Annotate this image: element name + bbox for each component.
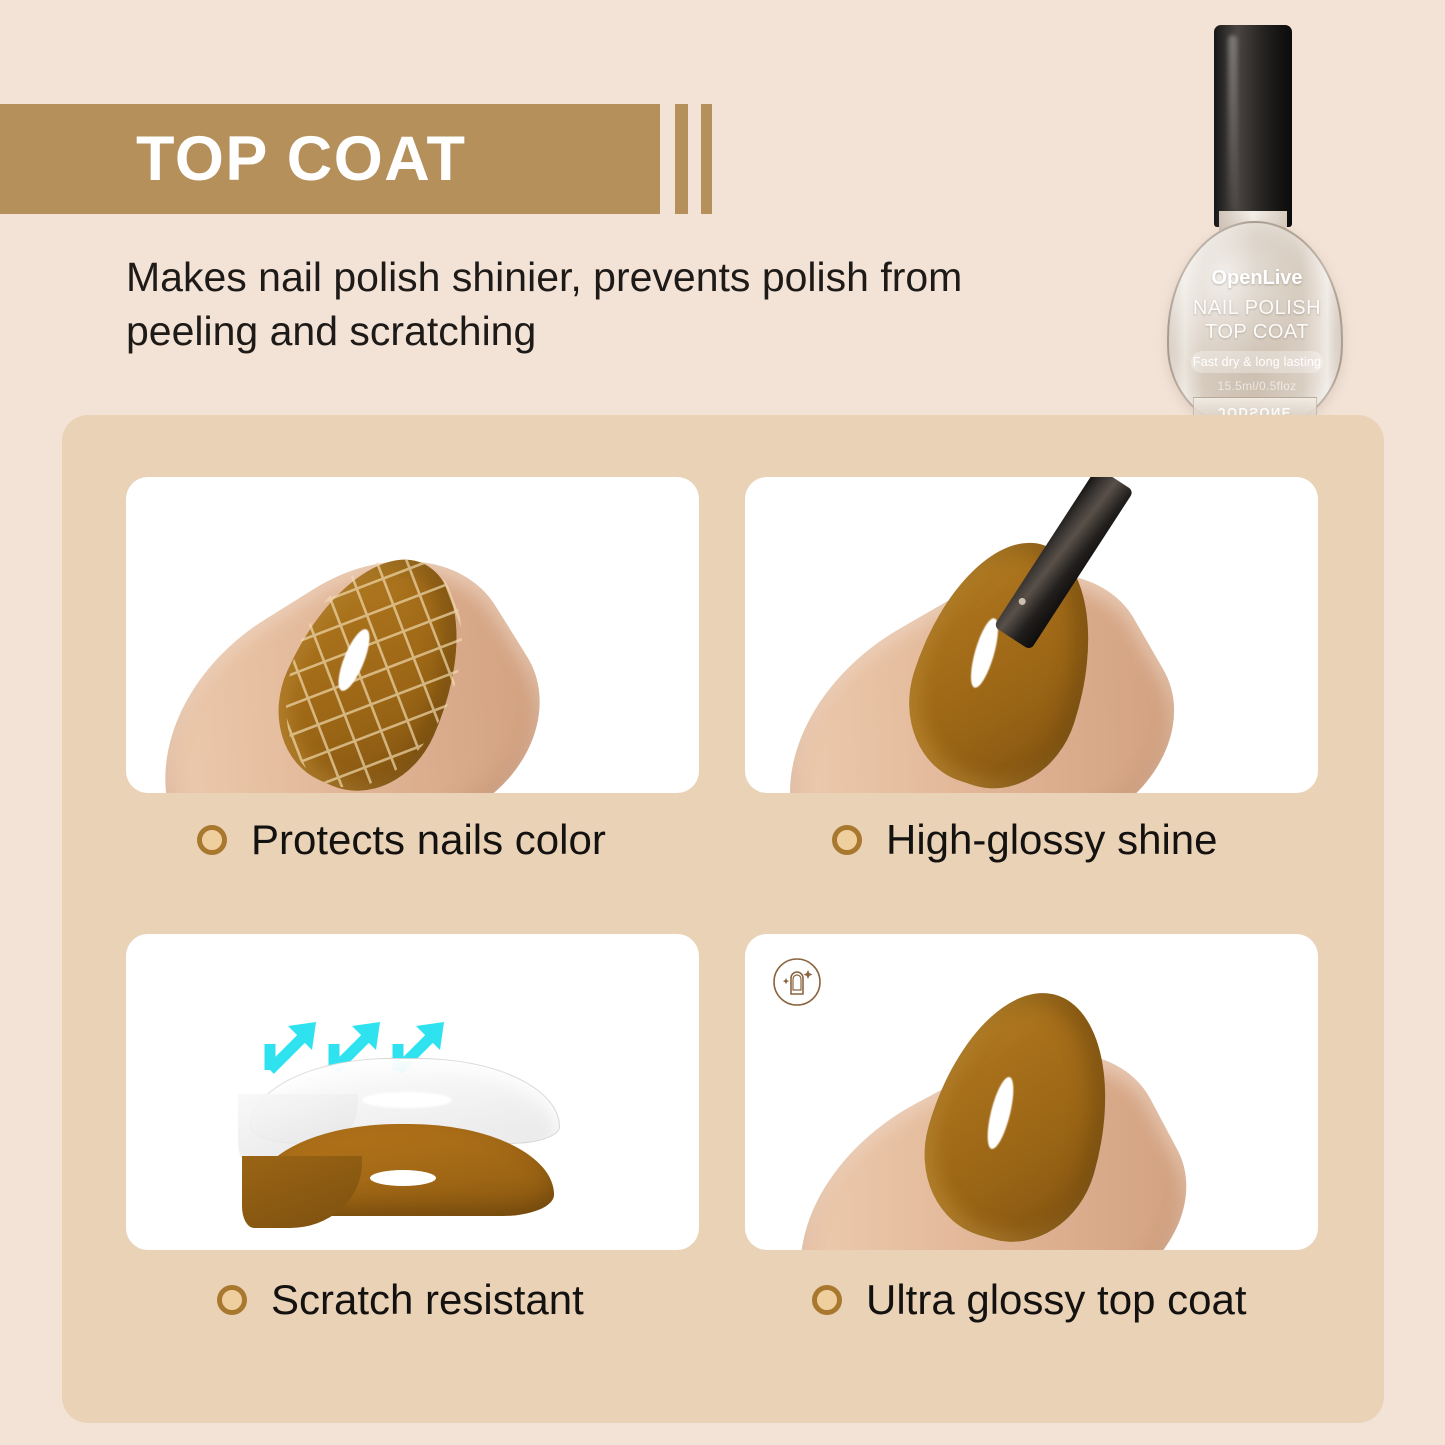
bullet-icon — [812, 1285, 842, 1315]
banner-accent-bar-1 — [675, 104, 688, 214]
polish-layer-gloss — [370, 1170, 436, 1186]
bullet-icon — [832, 825, 862, 855]
bottle-tagline: Fast dry & long lasting — [1191, 351, 1323, 373]
header-subtitle: Makes nail polish shinier, prevents poli… — [126, 250, 1076, 358]
clear-layer-gloss — [362, 1092, 452, 1108]
feature-label-protects-nails-color: Protects nails color — [197, 816, 606, 864]
glossy-nail-badge-icon — [771, 956, 823, 1008]
header-banner: TOP COAT — [0, 104, 712, 214]
bottle-volume: 15.5ml/0.5floz — [1169, 379, 1345, 393]
page-title: TOP COAT — [136, 128, 467, 191]
feature-label-scratch-resistant: Scratch resistant — [217, 1276, 584, 1324]
banner-block: TOP COAT — [0, 104, 660, 214]
bottle-brand-label: OpenLive — [1169, 267, 1345, 290]
bottle-product-line-1: NAIL POLISH — [1169, 297, 1345, 320]
feature-label-ultra-glossy-top-coat: Ultra glossy top coat — [812, 1276, 1247, 1324]
feature-label-text: Scratch resistant — [271, 1276, 584, 1324]
bullet-icon — [197, 825, 227, 855]
bullet-icon — [217, 1285, 247, 1315]
feature-label-text: High-glossy shine — [886, 816, 1218, 864]
feature-card-high-glossy-shine — [745, 477, 1318, 793]
feature-card-ultra-glossy-top-coat — [745, 934, 1318, 1250]
feature-label-text: Ultra glossy top coat — [866, 1276, 1247, 1324]
feature-label-text: Protects nails color — [251, 816, 606, 864]
feature-card-scratch-resistant — [126, 934, 699, 1250]
product-bottle: OpenLive NAIL POLISH TOP COAT Fast dry &… — [1163, 25, 1363, 475]
banner-accent-bar-2 — [701, 104, 712, 214]
polish-color-layer-fold — [242, 1156, 362, 1228]
feature-card-protects-nails-color — [126, 477, 699, 793]
feature-label-high-glossy-shine: High-glossy shine — [832, 816, 1218, 864]
bottle-cap — [1214, 25, 1292, 227]
bottle-product-line-2: TOP COAT — [1169, 321, 1345, 344]
